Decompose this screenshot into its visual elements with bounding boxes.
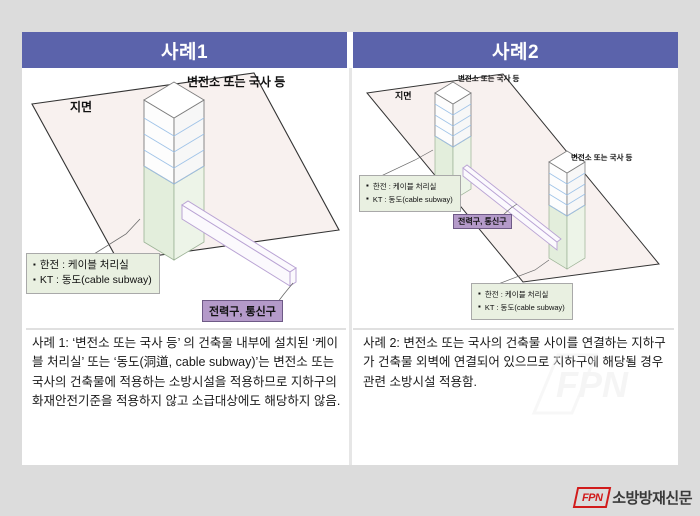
header-row: 사례1 사례2 [22,32,678,68]
callout-line-1: 한전 : 케이블 처리실 [33,258,152,273]
caption-case1: 사례 1: ‘변전소 또는 국사 등’ 의 건축물 내부에 설치된 ‘케이블 처… [32,334,342,412]
label-substation-1-case2: 변전소 또는 국사 등 [458,73,519,84]
fpn-mark-text: FPN [575,487,609,508]
horizontal-divider-right [353,328,674,330]
vertical-divider [349,68,352,465]
panel-header-case2: 사례2 [353,32,678,68]
tag-power-comm-tunnel-case2: 전력구, 통신구 [453,214,512,229]
fpn-logo: FPN 소방방재신문 [575,487,692,508]
diagram-case2: 변전소 또는 국사 등 변전소 또는 국사 등 지면 한전 : 케이블 처리실 … [353,68,678,328]
label-ground-case2: 지면 [395,89,412,102]
fpn-watermark: FPN [522,351,672,417]
callout-cable-room-2-case2: 한전 : 케이블 처리실 KT : 동도(cable subway) [471,283,573,320]
callout-line-2: KT : 동도(cable subway) [33,273,152,288]
label-substation-case1: 변전소 또는 국사 등 [187,73,285,90]
callout-line-1: 한전 : 케이블 처리실 [366,180,453,193]
label-ground-case1: 지면 [70,98,92,115]
panel-header-case1: 사례1 [22,32,347,68]
svg-text:FPN: FPN [556,364,629,405]
callout-cable-room-case1: 한전 : 케이블 처리실 KT : 동도(cable subway) [26,253,160,294]
label-substation-2-case2: 변전소 또는 국사 등 [571,152,632,163]
fpn-mark-icon: FPN [575,487,609,508]
callout-cable-room-1-case2: 한전 : 케이블 처리실 KT : 동도(cable subway) [359,175,461,212]
fpn-logo-name: 소방방재신문 [612,487,692,508]
callout-line-2: KT : 동도(cable subway) [478,301,565,314]
callout-line-1: 한전 : 케이블 처리실 [478,288,565,301]
horizontal-divider-left [26,328,346,330]
tag-power-comm-tunnel-case1: 전력구, 통신구 [202,300,283,322]
content-sheet: 사례1 사례2 [22,32,678,465]
callout-line-2: KT : 동도(cable subway) [366,193,453,206]
diagram-case1: 변전소 또는 국사 등 지면 한전 : 케이블 처리실 KT : 동도(cabl… [22,68,349,328]
